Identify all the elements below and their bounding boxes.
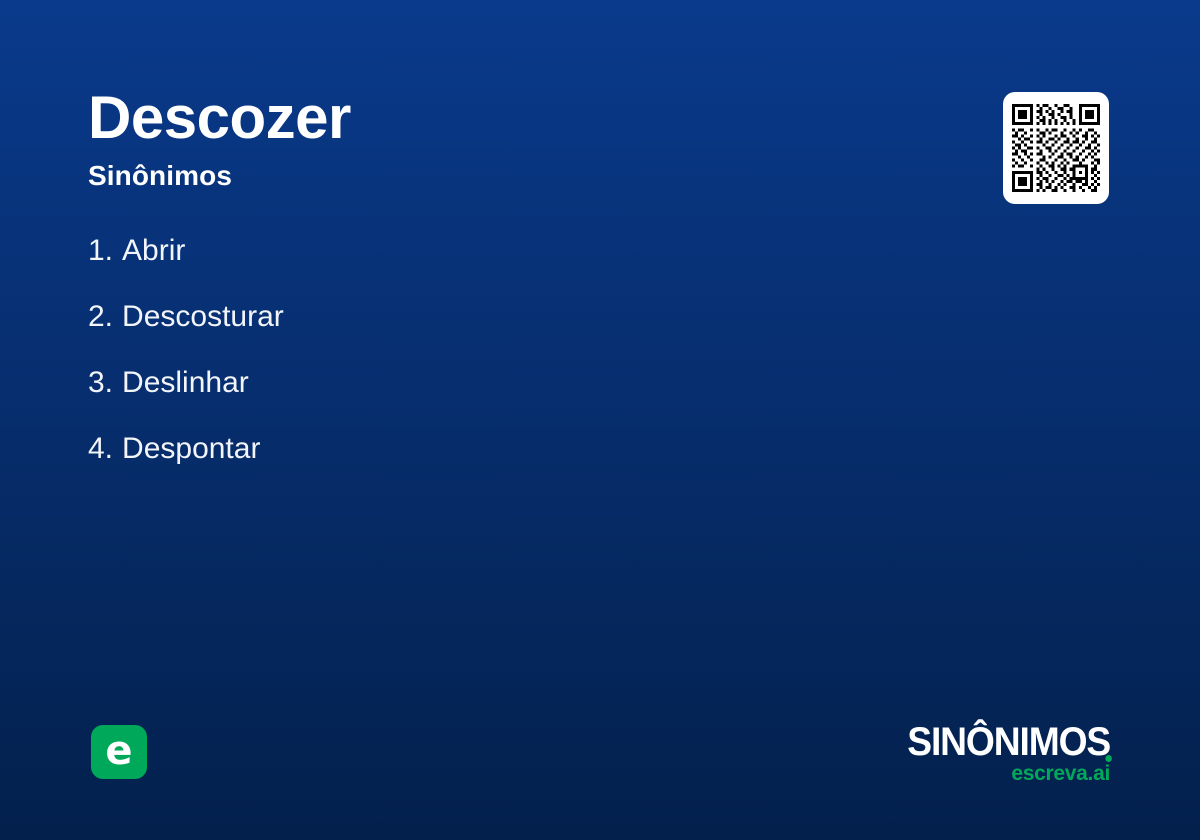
logo-wordmark-label: SINÔNIMOS bbox=[907, 720, 1110, 764]
logo-dot-icon bbox=[1105, 755, 1112, 762]
sinonimos-logo-lockup[interactable]: SINÔNIMOS escreva.ai bbox=[850, 722, 1110, 784]
list-item-label: Abrir bbox=[122, 236, 185, 266]
qr-code-icon bbox=[1012, 104, 1100, 192]
list-item-label: Deslinhar bbox=[122, 368, 249, 398]
synonym-card: Descozer Sinônimos 1. Abrir 2. Descostur… bbox=[0, 0, 1200, 840]
list-item: 2. Descosturar bbox=[88, 302, 868, 368]
list-item-index: 2. bbox=[88, 302, 113, 332]
logo-tagline: escreva.ai bbox=[850, 763, 1110, 784]
list-item-label: Descosturar bbox=[122, 302, 284, 332]
page-subtitle: Sinônimos bbox=[88, 159, 848, 193]
word-heading-block: Descozer Sinônimos bbox=[88, 86, 848, 193]
page-title: Descozer bbox=[88, 86, 848, 149]
qr-code-panel[interactable] bbox=[1003, 92, 1109, 204]
list-item: 4. Despontar bbox=[88, 434, 868, 500]
list-item-index: 3. bbox=[88, 368, 113, 398]
list-item-index: 1. bbox=[88, 236, 113, 266]
brand-badge-letter: e bbox=[105, 731, 132, 771]
list-item-index: 4. bbox=[88, 434, 113, 464]
escreva-e-logo-icon[interactable]: e bbox=[91, 725, 147, 779]
synonyms-list: 1. Abrir 2. Descosturar 3. Deslinhar 4. … bbox=[88, 236, 868, 500]
list-item: 1. Abrir bbox=[88, 236, 868, 302]
list-item: 3. Deslinhar bbox=[88, 368, 868, 434]
list-item-label: Despontar bbox=[122, 434, 260, 464]
logo-wordmark-text: SINÔNIMOS bbox=[907, 722, 1110, 762]
